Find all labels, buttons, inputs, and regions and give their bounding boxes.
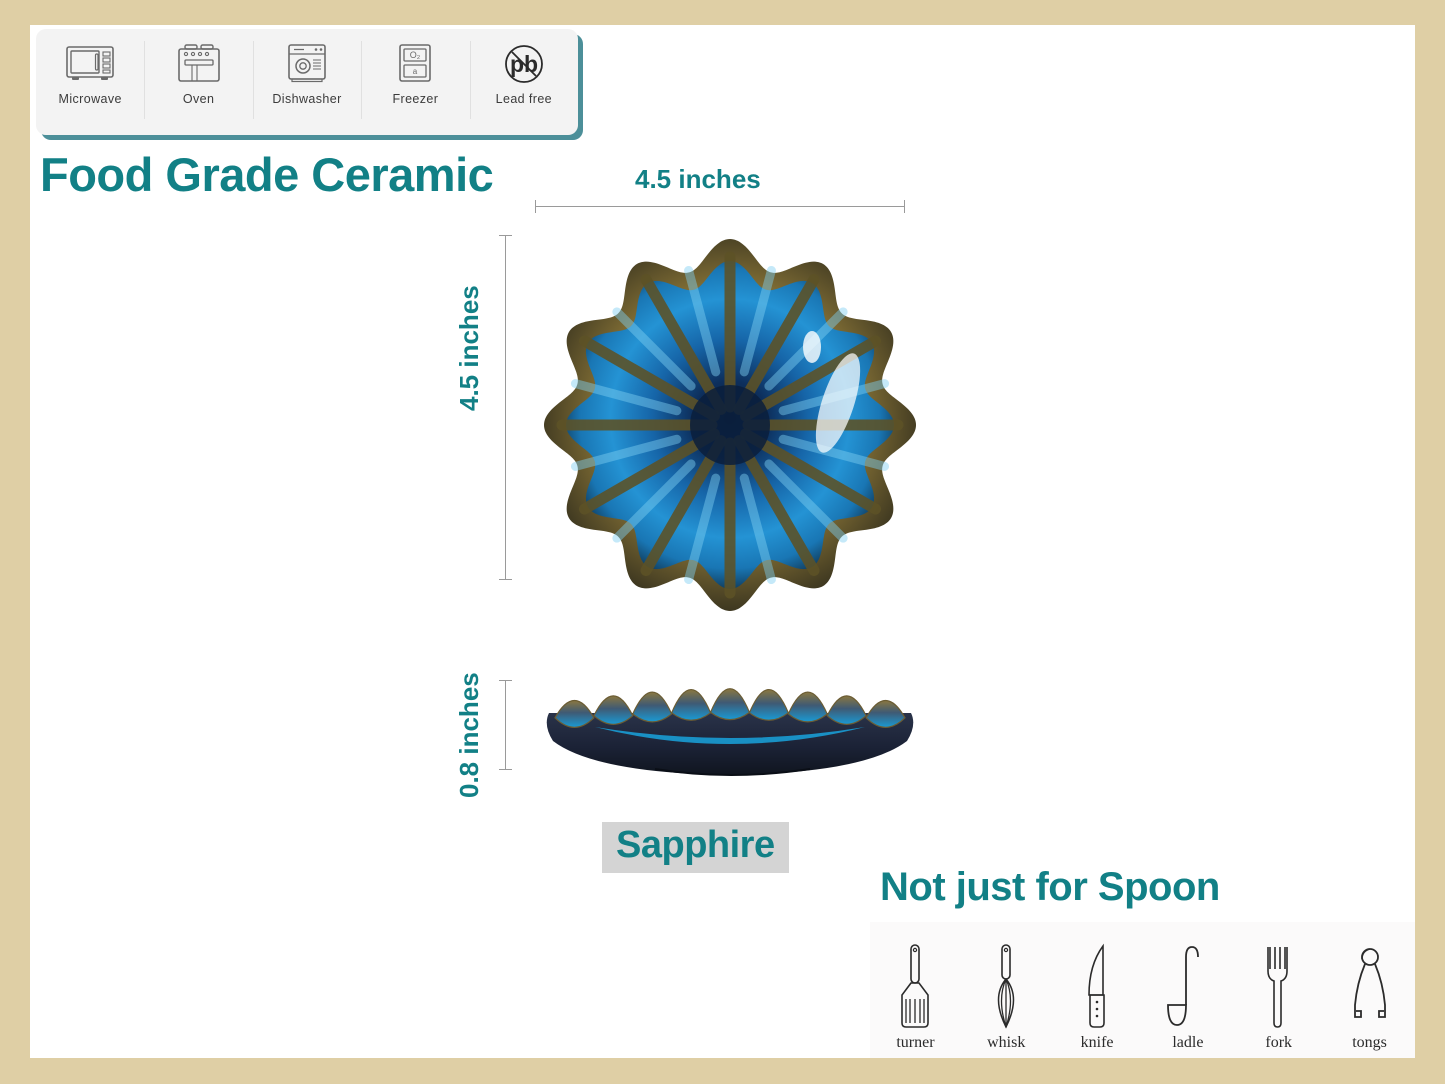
utensil-tongs: tongs: [1324, 939, 1415, 1058]
whisk-icon: [985, 939, 1027, 1031]
infographic-page: Microwave: [0, 0, 1445, 1084]
oven-icon: [175, 38, 223, 90]
dimension-line-height: [505, 235, 506, 580]
lead-free-icon: pb: [501, 38, 547, 90]
product-image-top-view: [530, 230, 930, 620]
badge-oven: Oven: [144, 29, 252, 135]
feature-badge-bar: Microwave: [36, 29, 578, 135]
utensil-label: knife: [1081, 1034, 1114, 1052]
utensil-compatibility-strip: turner whisk: [870, 922, 1415, 1058]
content-canvas: Microwave: [30, 25, 1415, 1058]
badge-dishwasher: Dishwasher: [253, 29, 361, 135]
utensil-label: tongs: [1352, 1034, 1387, 1052]
microwave-icon: [65, 38, 115, 90]
utensil-knife: knife: [1052, 939, 1143, 1058]
dishwasher-icon: [285, 38, 329, 90]
utensil-label: turner: [896, 1034, 934, 1052]
badge-label: Lead free: [496, 92, 552, 106]
badge-lead-free: pb Lead free: [470, 29, 578, 135]
dimension-line-width: [535, 206, 905, 207]
color-name-badge: Sapphire: [602, 822, 789, 873]
svg-text:a: a: [413, 67, 418, 76]
badge-label: Dishwasher: [272, 92, 341, 106]
ladle-icon: [1164, 939, 1212, 1031]
badge-label: Microwave: [59, 92, 122, 106]
utensil-fork: fork: [1233, 939, 1324, 1058]
dimension-line-depth: [505, 680, 506, 770]
section-title-not-just-for-spoon: Not just for Spoon: [880, 865, 1220, 910]
utensil-label: fork: [1265, 1034, 1292, 1052]
utensil-ladle: ladle: [1142, 939, 1233, 1058]
dimension-label-height: 4.5 inches: [454, 285, 485, 411]
badge-microwave: Microwave: [36, 29, 144, 135]
fork-icon: [1261, 939, 1297, 1031]
utensil-turner: turner: [870, 939, 961, 1058]
svg-text:O₂: O₂: [410, 50, 421, 60]
product-image-side-view: [535, 665, 925, 790]
knife-icon: [1076, 939, 1118, 1031]
utensil-label: ladle: [1172, 1034, 1203, 1052]
dimension-label-width: 4.5 inches: [635, 164, 761, 195]
utensil-label: whisk: [987, 1034, 1025, 1052]
freezer-icon: O₂ a: [396, 38, 434, 90]
dimension-label-depth: 0.8 inches: [454, 672, 485, 798]
turner-icon: [894, 939, 936, 1031]
badge-label: Oven: [183, 92, 214, 106]
page-title-food-grade: Food Grade Ceramic: [40, 147, 493, 202]
tongs-icon: [1347, 939, 1393, 1031]
badge-freezer: O₂ a Freezer: [361, 29, 469, 135]
badge-label: Freezer: [392, 92, 438, 106]
utensil-whisk: whisk: [961, 939, 1052, 1058]
